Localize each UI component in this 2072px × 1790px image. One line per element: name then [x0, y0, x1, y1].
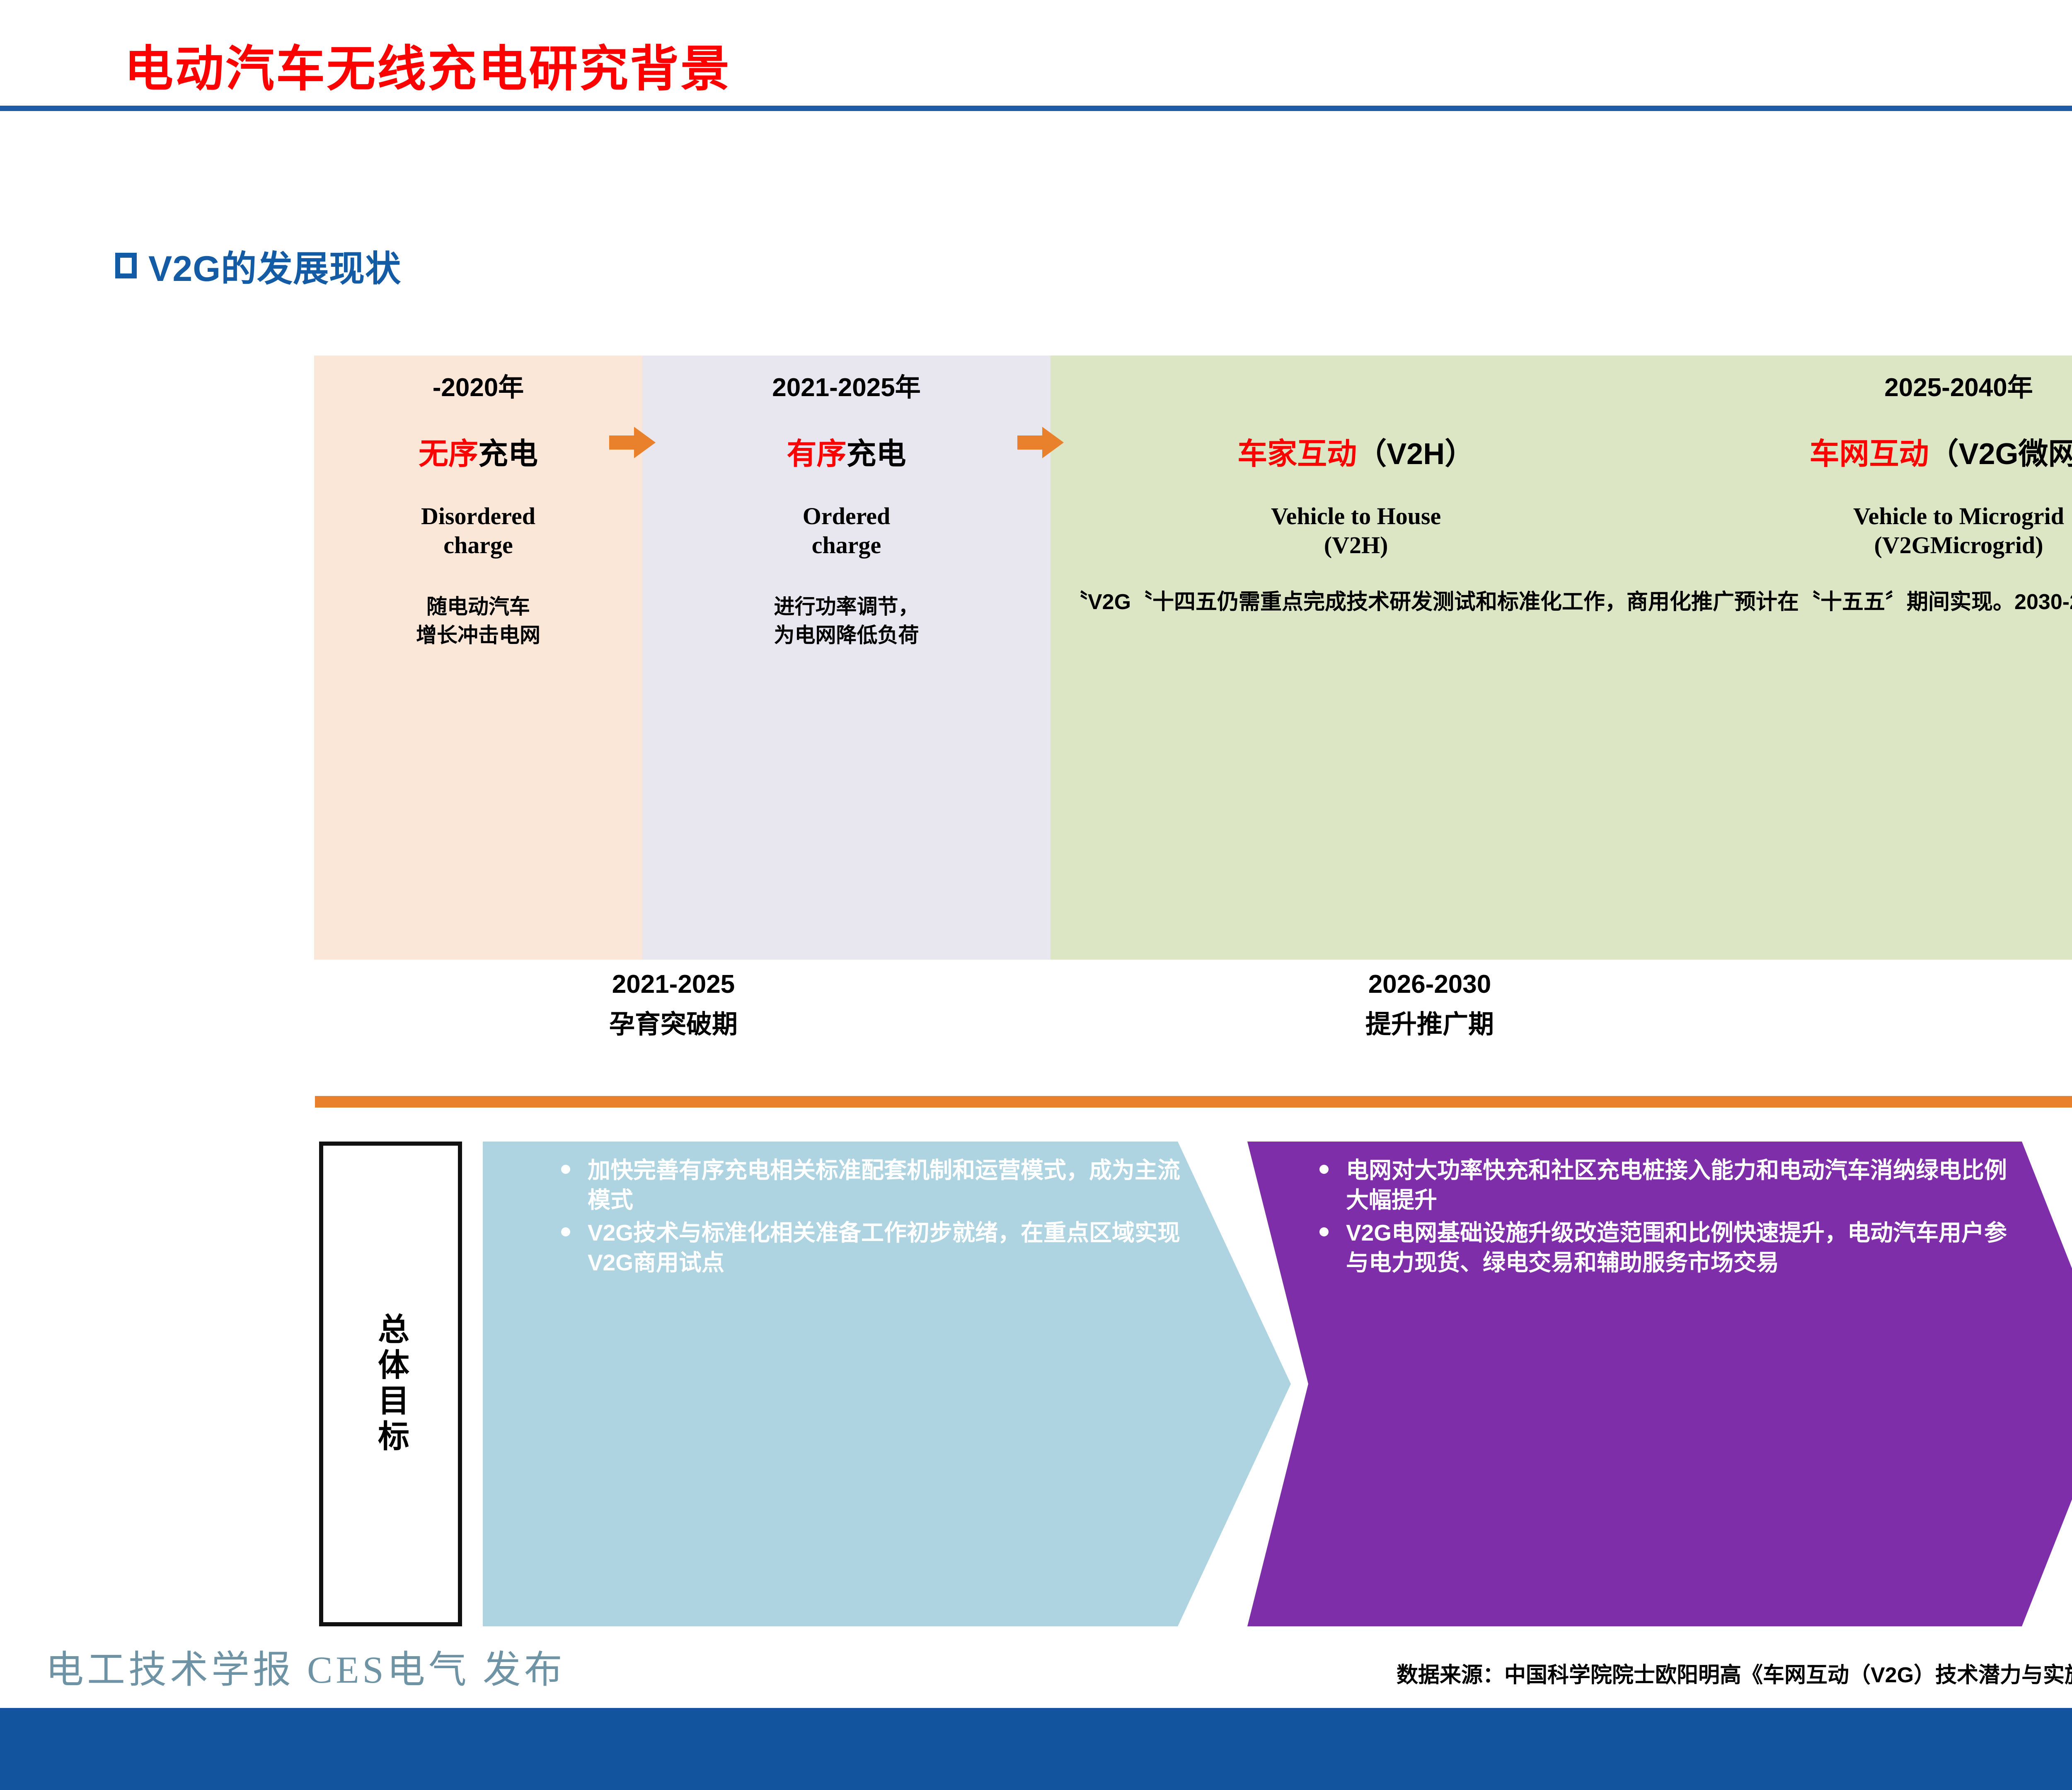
stage-band: -2020年 无序充电 Disordered charge 随电动汽车 增长冲击…: [314, 356, 2072, 960]
list-item: V2G技术与标准化相关准备工作初步就绪，在重点区域实现V2G商用试点: [555, 1218, 1187, 1277]
timeline-year: 2021-2025: [487, 970, 860, 999]
stage-year: 2025-2040年: [1055, 366, 2072, 404]
stage-column-v2g: 2025-2040年 车家互动（V2H） Vehicle to House (V…: [1051, 356, 2072, 960]
stage-sub-v2g-microgrid: 车网互动（V2G微网） Vehicle to Microgrid (V2GMic…: [1657, 429, 2072, 559]
timeline-phase: 提升推广期: [1243, 1003, 1616, 1040]
chevron-bullet-list: 电网对大功率快充和社区充电桩接入能力和电动汽车消纳绿电比例大幅提升 V2G电网基…: [1247, 1156, 2072, 1281]
page-title: 电动汽车无线充电研究背景: [124, 29, 731, 100]
arrow-shaft: [315, 1096, 2072, 1108]
stage-name-black: （V2G微网）: [1929, 438, 2072, 471]
timeline-year: 2026-2030: [1243, 970, 1616, 999]
source-note: 数据来源：中国科学院院士欧阳明高《车网互动（V2G）技术潜力与实施可行性》的主旨…: [1397, 1657, 2072, 1688]
stage-name: 有序充电: [646, 429, 1046, 473]
header-divider: [0, 106, 2072, 111]
stage-column-disordered: -2020年 无序充电 Disordered charge 随电动汽车 增长冲击…: [314, 356, 642, 960]
arrow-shaft: [609, 435, 637, 450]
stage-english: Vehicle to House (V2H): [1055, 502, 1657, 559]
stage-name: 无序充电: [318, 429, 638, 473]
stage-name-black: （V2H）: [1357, 438, 1474, 471]
section-heading: V2G的发展现状: [115, 239, 401, 291]
stage-note: 进行功率调节， 为电网降低负荷: [646, 593, 1046, 650]
stage-english: Disordered charge: [318, 502, 638, 559]
stage-name-red: 车网互动: [1809, 438, 1929, 471]
stage-name-black: 充电: [847, 438, 906, 471]
list-item: 加快完善有序充电相关标准配套机制和运营模式，成为主流模式: [555, 1156, 1187, 1215]
stage-note: 随电动汽车 增长冲击电网: [318, 593, 638, 650]
chevron-bullet-list: 加快完善有序充电相关标准配套机制和运营模式，成为主流模式 V2G技术与标准化相关…: [483, 1156, 1291, 1281]
stage-year: -2020年: [318, 366, 638, 404]
stage-name: 车家互动（V2H）: [1055, 429, 1657, 473]
stage-name: 车网互动（V2G微网）: [1657, 429, 2072, 473]
stage-english: Vehicle to Microgrid (V2GMicrogrid): [1657, 502, 2072, 559]
stage-english: Ordered charge: [646, 502, 1046, 559]
timeline-mark: 2031-2035 加速普及期: [1999, 970, 2072, 1040]
chevron-body: 加快完善有序充电相关标准配套机制和运营模式，成为主流模式 V2G技术与标准化相关…: [483, 1142, 1291, 1626]
phase-chevron-2: 电网对大功率快充和社区充电桩接入能力和电动汽车消纳绿电比例大幅提升 V2G电网基…: [1247, 1142, 2072, 1626]
arrow-head: [1042, 427, 1064, 458]
stage-name-red: 车家互动: [1237, 438, 1357, 471]
phase-chevron-1: 加快完善有序充电相关标准配套机制和运营模式，成为主流模式 V2G技术与标准化相关…: [483, 1142, 1291, 1626]
section-title: V2G的发展现状: [148, 239, 401, 291]
list-item: 电网对大功率快充和社区充电桩接入能力和电动汽车消纳绿电比例大幅提升: [1314, 1156, 2022, 1215]
chevron-body: 电网对大功率快充和社区充电桩接入能力和电动汽车消纳绿电比例大幅提升 V2G电网基…: [1247, 1142, 2072, 1626]
stage-sub-v2h: 车家互动（V2H） Vehicle to House (V2H): [1055, 429, 1657, 559]
timeline-mark: 2026-2030 提升推广期: [1243, 970, 1616, 1040]
stage-note: 〝V2G〝十四五仍需重点完成技术研发测试和标准化工作，商用化推广预计在〝十五五〞…: [1055, 587, 2072, 618]
stage-column-ordered: 2021-2025年 有序充电 Ordered charge 进行功率调节， 为…: [642, 356, 1051, 960]
stage-year: 2021-2025年: [646, 366, 1046, 404]
stage-name-black: 充电: [478, 438, 538, 471]
flow-arrow-icon: [609, 427, 655, 458]
stage-subcolumns: 车家互动（V2H） Vehicle to House (V2H) 车网互动（V2…: [1055, 429, 2072, 559]
timeline-phase: 孕育突破期: [487, 1003, 860, 1040]
overall-goal-label: 总体目标: [373, 1313, 408, 1455]
bottom-bar: [0, 1708, 2072, 1790]
timeline-phase: 加速普及期: [1999, 1003, 2072, 1040]
flow-arrow-icon: [1017, 427, 1063, 458]
square-bullet-icon: [115, 253, 137, 278]
arrow-shaft: [1017, 435, 1045, 450]
overall-goal-box: 总体目标: [319, 1142, 462, 1626]
stage-name-red: 无序: [419, 438, 478, 471]
journal-watermark: 电工技术学报 CES电气 发布: [46, 1639, 566, 1694]
timeline-arrow-icon: [315, 1092, 2072, 1112]
stage-name-red: 有序: [787, 438, 846, 471]
timeline-mark: 2021-2025 孕育突破期: [487, 970, 860, 1040]
timeline-year: 2031-2035: [1999, 970, 2072, 999]
arrow-head: [634, 427, 656, 458]
list-item: V2G电网基础设施升级改造范围和比例快速提升，电动汽车用户参与电力现货、绿电交易…: [1314, 1218, 2022, 1277]
